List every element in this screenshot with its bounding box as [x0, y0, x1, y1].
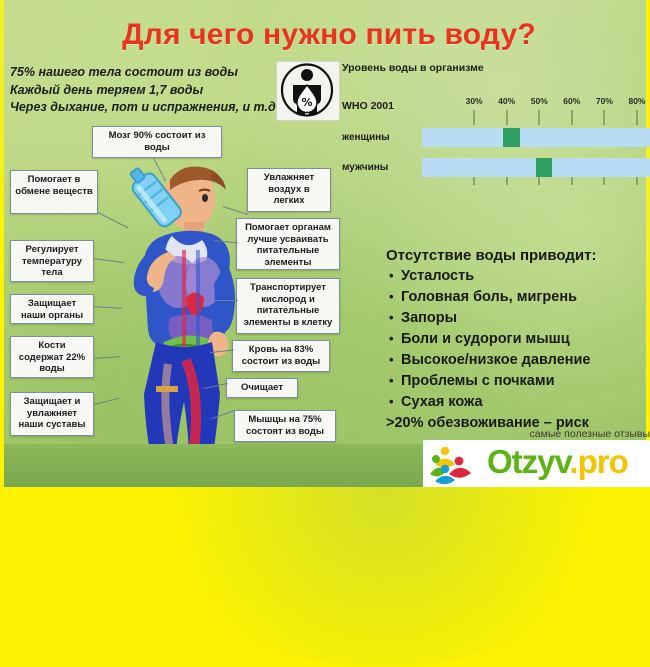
effect-item: Боли и судороги мышц — [386, 329, 650, 350]
axis-tick-label: 30% — [466, 96, 483, 106]
effect-item: Высокое/низкое давление — [386, 350, 650, 371]
callout-joints: Защищает и увлажняет наши суставы — [10, 392, 94, 436]
person-water-drop-percent-icon: % — [276, 61, 340, 121]
axis-tick-mark — [474, 110, 475, 125]
chart-row-men: мужчины — [342, 158, 650, 177]
chart-row-label: мужчины — [342, 158, 416, 177]
axis-tick-label: 50% — [531, 96, 548, 106]
effect-item: Усталость — [386, 266, 650, 287]
logo-word-tld: pro — [578, 443, 628, 480]
chart-row-women: женщины — [342, 128, 650, 147]
intro-line-1: 75% нашего тела состоит из воды — [10, 64, 300, 82]
percent-glyph: % — [301, 96, 312, 109]
people-group-logo-icon — [429, 444, 483, 484]
logo-wordmark: Otzyv.pro — [487, 442, 628, 482]
axis-tick-mark — [604, 110, 605, 125]
axis-tick-mark — [507, 177, 508, 185]
axis-tick-mark — [636, 110, 637, 125]
logo-word-main: Otzyv — [487, 443, 569, 480]
page-title: Для чего нужно пить воду? — [4, 18, 650, 52]
callout-muscles: Мышцы на 75% состоят из воды — [234, 410, 336, 442]
callout-leader — [214, 300, 238, 301]
effects-heading: Отсутствие воды приводит: — [386, 245, 650, 266]
intro-line-2: Каждый день теряем 1,7 воды — [10, 82, 300, 100]
callout-nutrients: Помогает органам лучше усваивать питател… — [236, 218, 340, 270]
otzyv-pro-logo[interactable]: самые полезные отзывы Otzyv.pro — [423, 440, 650, 487]
effect-item: Головная боль, мигрень — [386, 287, 650, 308]
chart-row-label: женщины — [342, 128, 416, 147]
axis-tick-mark — [539, 177, 540, 185]
callout-cleanse: Очищает — [226, 378, 298, 398]
axis-tick-mark — [637, 177, 638, 185]
axis-tick-mark — [572, 177, 573, 185]
callout-blood: Кровь на 83% состоит из воды — [232, 340, 330, 372]
axis-tick-label: 40% — [498, 96, 515, 106]
chart-title: Уровень воды в организме — [342, 62, 650, 74]
callout-lungs: Увлажняет воздух в легких — [247, 168, 331, 212]
effect-item: Проблемы с почками — [386, 371, 650, 392]
chart-marker-men — [536, 158, 552, 177]
intro-text-block: 75% нашего тела состоит из воды Каждый д… — [10, 64, 300, 117]
chart-track — [422, 158, 650, 177]
water-level-chart: Уровень воды в организме WHO 2001 30% 40… — [342, 62, 650, 177]
axis-tick-mark — [539, 110, 540, 125]
chart-track — [422, 128, 650, 147]
axis-tick-mark — [506, 110, 507, 125]
axis-tick-mark — [604, 177, 605, 185]
chart-source-label: WHO 2001 — [342, 100, 394, 112]
axis-tick-mark — [474, 177, 475, 185]
axis-tick-label: 70% — [596, 96, 613, 106]
callout-temperature: Регулирует температуру тела — [10, 240, 94, 282]
callout-brain: Мозг 90% состоит из воды — [92, 126, 222, 158]
axis-tick-label: 60% — [563, 96, 580, 106]
callout-bones: Кости содержат 22% воды — [10, 336, 94, 378]
callout-organs: Защищает наши органы — [10, 294, 94, 324]
dehydration-effects-list: Отсутствие воды приводит: Усталость Голо… — [386, 245, 650, 455]
logo-word-dot: . — [569, 443, 577, 480]
callout-transport: Транспортирует кислород и питательные эл… — [236, 278, 340, 334]
chart-marker-women — [503, 128, 519, 147]
infographic-canvas: Для чего нужно пить воду? 75% нашего тел… — [0, 0, 650, 487]
callout-metabolism: Помогает в обмене веществ — [10, 170, 98, 214]
bottom-green-bar — [4, 444, 423, 487]
effect-item: Запоры — [386, 308, 650, 329]
chart-axis: 30% 40% 50% 60% 70% 80% 90% — [422, 96, 650, 116]
intro-line-3: Через дыхание, пот и испражнения, и т.д. — [10, 99, 300, 117]
axis-tick-label: 80% — [628, 96, 645, 106]
effects-items: Усталость Головная боль, мигрень Запоры … — [386, 266, 650, 413]
axis-tick-mark — [571, 110, 572, 125]
effect-item: Сухая кожа — [386, 392, 650, 413]
logo-tagline: самые полезные отзывы — [530, 428, 650, 440]
